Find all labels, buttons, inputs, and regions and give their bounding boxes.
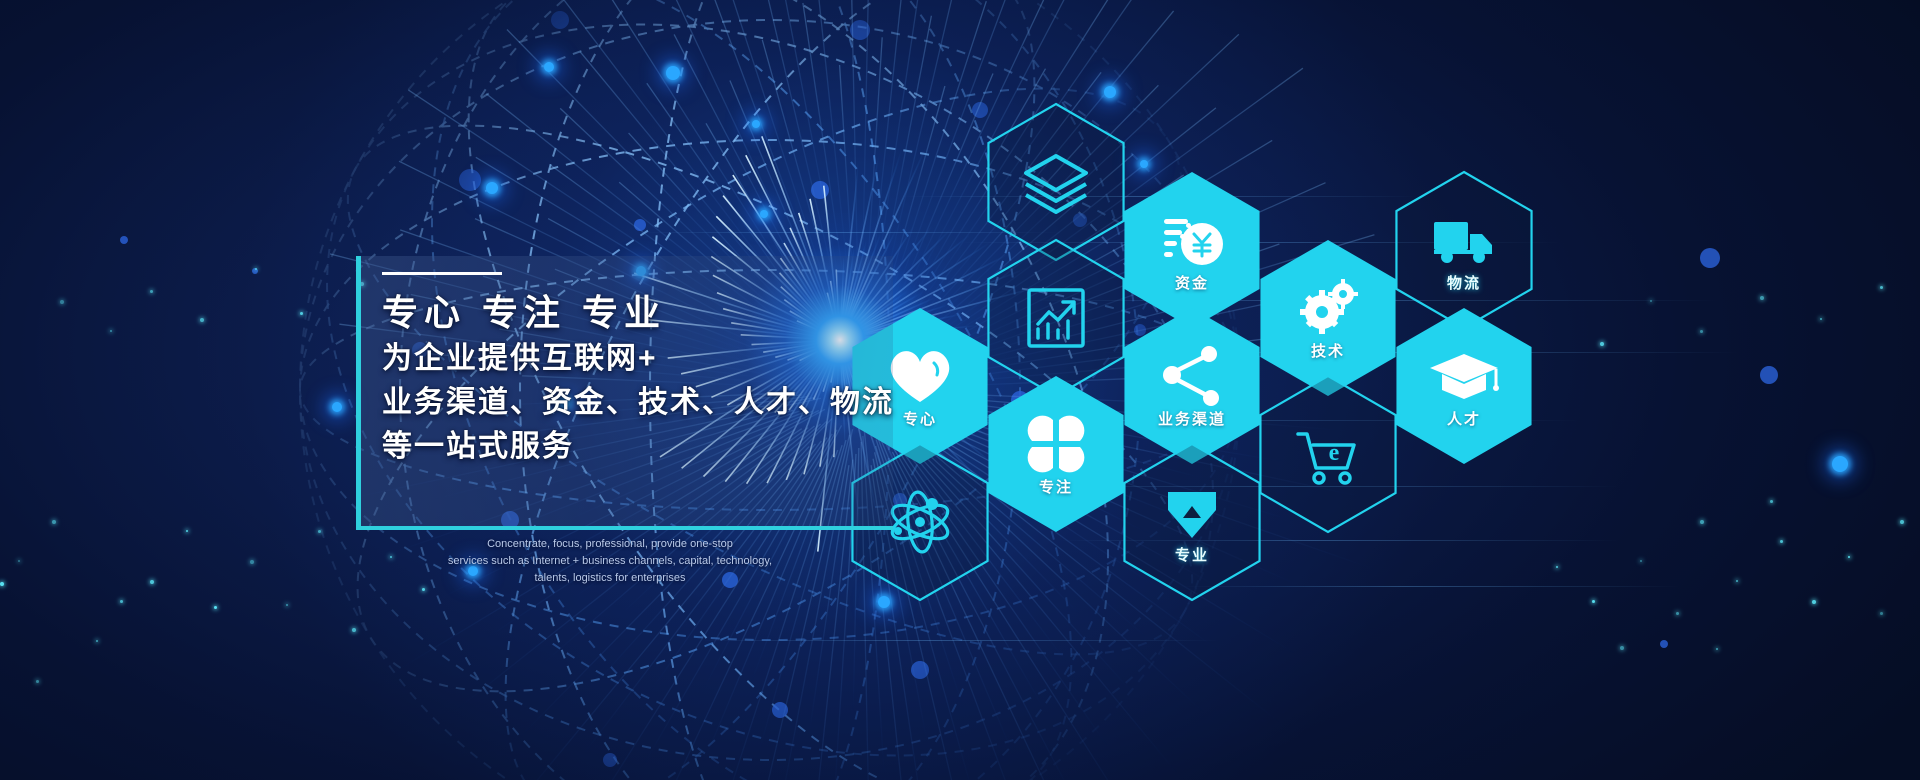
svg-text:e: e — [1329, 440, 1340, 466]
hexagon-label-zhuanye: 专业 — [1114, 544, 1270, 565]
hexagon-cluster: 资金 技术 — [0, 0, 1920, 780]
subtitle-block: Concentrate, focus, professional, provid… — [420, 536, 800, 587]
hexagon-label-wuliu: 物流 — [1386, 272, 1542, 293]
subtitle-line-3: talents, logistics for enterprises — [420, 570, 800, 587]
headline-line-2: 为企业提供互联网+ — [382, 337, 902, 381]
headline-copy: 专心 专注 专业 为企业提供互联网+ 业务渠道、资金、技术、人才、物流 等一站式… — [382, 272, 902, 469]
headline-rule — [382, 272, 502, 275]
hero-banner: 资金 技术 — [0, 0, 1920, 780]
headline-line-3: 业务渠道、资金、技术、人才、物流 — [382, 381, 902, 425]
headline-line-1: 专心 专注 专业 — [382, 289, 902, 337]
panel-bottom-bar — [356, 526, 893, 530]
subtitle-line-1: Concentrate, focus, professional, provid… — [420, 536, 800, 553]
panel-accent-bar — [356, 256, 361, 530]
subtitle-line-2: services such as Internet + business cha… — [420, 553, 800, 570]
headline-line-4: 等一站式服务 — [382, 425, 902, 469]
